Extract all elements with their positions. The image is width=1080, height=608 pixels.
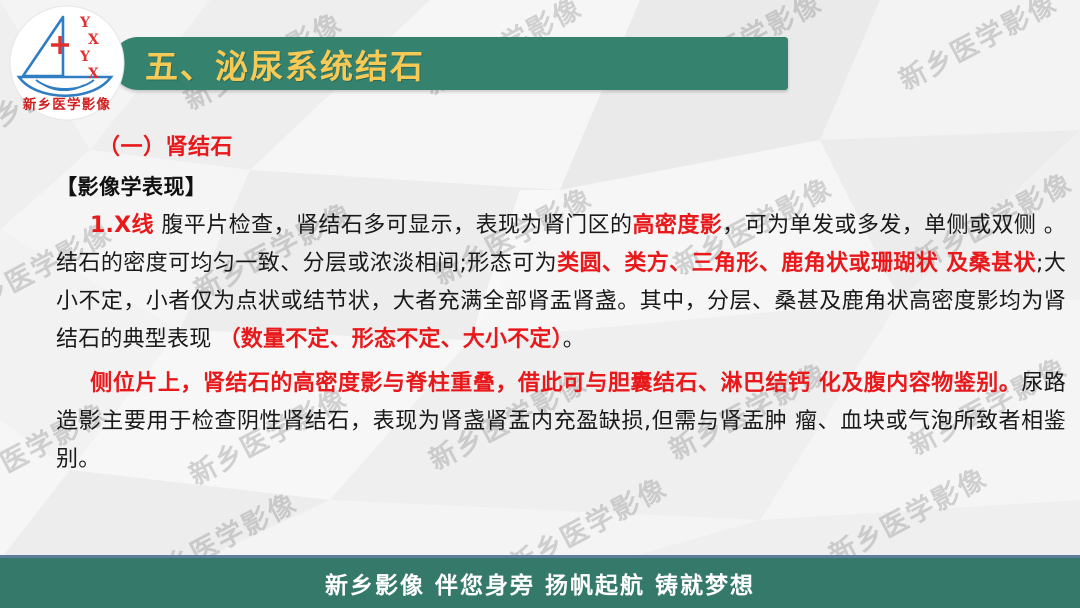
paragraph-xray: 1.X线 腹平片检查，肾结石多可显示，表现为肾门区的高密度影，可为单发或多发，单… [56,207,1066,359]
highlight-shapes: 类圆、类方、三角形、鹿角状或珊瑚状 及桑甚状 [557,251,1036,276]
subsection-heading: （一）肾结石 [98,133,1066,163]
slide-title-bar: 五、泌尿系统结石 [112,37,788,90]
page-title: 五、泌尿系统结石 [145,40,425,88]
svg-text:X: X [88,66,99,82]
section-heading: 【影像学表现】 [56,173,1066,201]
highlight-lateral-differential: 侧位片上，肾结石的高密度影与脊柱重叠，借此可与胆囊结石、淋巴结钙 化及腹内容物鉴… [90,371,1021,396]
slide-footer: 新乡影像 伴您身旁 扬帆起航 铸就梦想 [0,555,1080,608]
footer-slogan: 新乡影像 伴您身旁 扬帆起航 铸就梦想 [325,566,755,600]
organization-logo: Y X Y X 新乡医学影像 [6,4,128,122]
paragraph-lateral-view: 侧位片上，肾结石的高密度影与脊柱重叠，借此可与胆囊结石、淋巴结钙 化及腹内容物鉴… [56,365,1066,479]
slide-body: （一）肾结石 【影像学表现】 1.X线 腹平片检查，肾结石多可显示，表现为肾门区… [56,133,1066,479]
slide-canvas: 新乡医学影像 新乡医学影像 新乡医学影像 新乡医学影像 新乡医学影像 新乡医学影… [0,0,1080,608]
highlight-density-shadow: 高密度影 [633,213,723,238]
logo-sailboat-icon: Y X Y X 新乡医学影像 [6,4,128,122]
paragraph-marker: 1.X线 [90,213,154,238]
logo-caption: 新乡医学影像 [23,96,111,113]
highlight-variability: （数量不定、形态不定、大小不定） [219,327,563,352]
paragraph-segment: 。 [563,327,585,352]
paragraph-segment: 腹平片检查，肾结石多可显示，表现为肾门区的 [154,213,633,238]
svg-text:Y: Y [79,49,91,65]
svg-text:Y: Y [79,15,91,31]
svg-text:X: X [88,32,99,48]
